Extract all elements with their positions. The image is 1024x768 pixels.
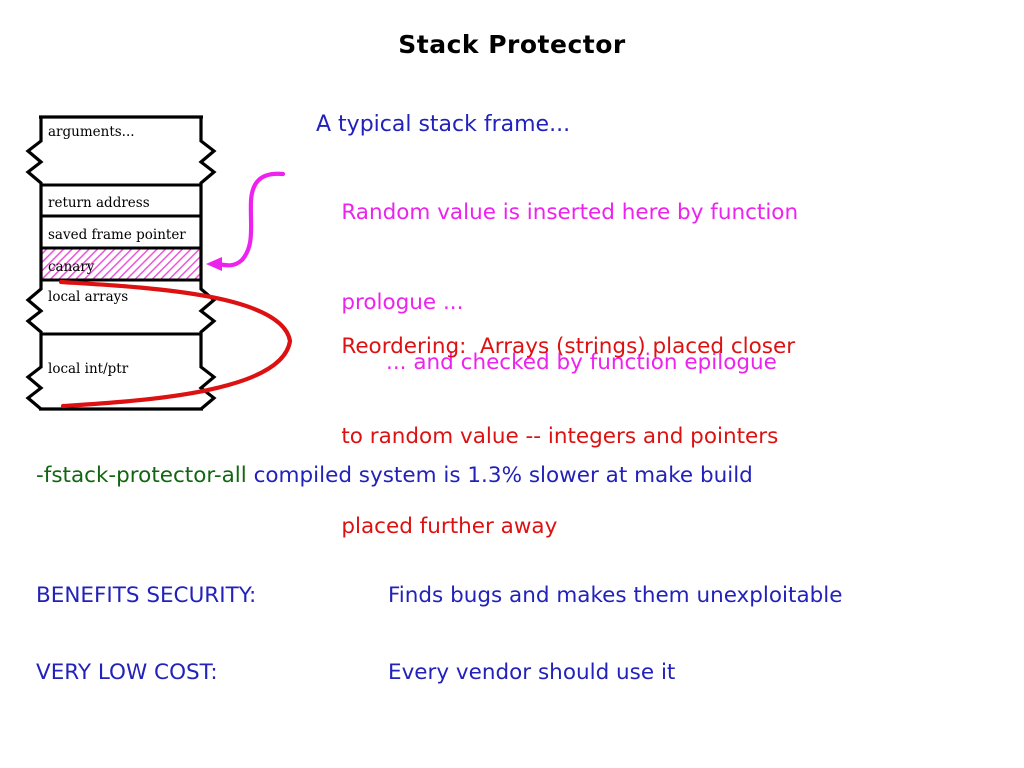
canary-callout-arrowhead xyxy=(206,257,222,271)
note-reordering-line2: to random value -- integers and pointers xyxy=(341,424,778,449)
stack-cell-label-return-address: return address xyxy=(48,195,150,211)
note-random-value-line1: Random value is inserted here by functio… xyxy=(341,200,798,225)
stack-cell-label-local-arrays: local arrays xyxy=(48,289,128,305)
stack-cell-label-arguments: arguments... xyxy=(48,124,135,140)
frame-left-edge xyxy=(28,117,41,409)
page-title: Stack Protector xyxy=(0,30,1024,59)
row-very-low-cost: VERY LOW COST:Every vendor should use it xyxy=(36,660,675,685)
row-cost-label: VERY LOW COST: xyxy=(36,660,388,685)
compiler-flag: -fstack-protector-all xyxy=(36,463,247,488)
note-reordering-line3: placed further away xyxy=(341,514,557,539)
stack-cell-label-saved-frame-pointer: saved frame pointer xyxy=(48,227,186,243)
canary-callout-arrow xyxy=(216,174,283,266)
stack-frame-diagram: arguments... return address saved frame … xyxy=(20,105,320,425)
slide-canvas: Stack Protector xyxy=(0,0,1024,768)
note-reordering-line1: Reordering: Arrays (strings) placed clos… xyxy=(341,334,795,359)
performance-statement: -fstack-protector-all compiled system is… xyxy=(36,463,753,488)
performance-text: compiled system is 1.3% slower at make b… xyxy=(247,463,753,488)
row-benefits-detail: Finds bugs and makes them unexploitable xyxy=(388,583,842,608)
stack-cell-label-local-int-ptr: local int/ptr xyxy=(48,361,129,377)
note-reordering: Reordering: Arrays (strings) placed clos… xyxy=(314,302,924,572)
note-typical-stack-frame: A typical stack frame... xyxy=(316,110,570,140)
row-benefits-security: BENEFITS SECURITY:Finds bugs and makes t… xyxy=(36,583,842,608)
stack-cell-label-canary: canary xyxy=(48,259,95,275)
row-cost-detail: Every vendor should use it xyxy=(388,660,675,685)
row-benefits-label: BENEFITS SECURITY: xyxy=(36,583,388,608)
